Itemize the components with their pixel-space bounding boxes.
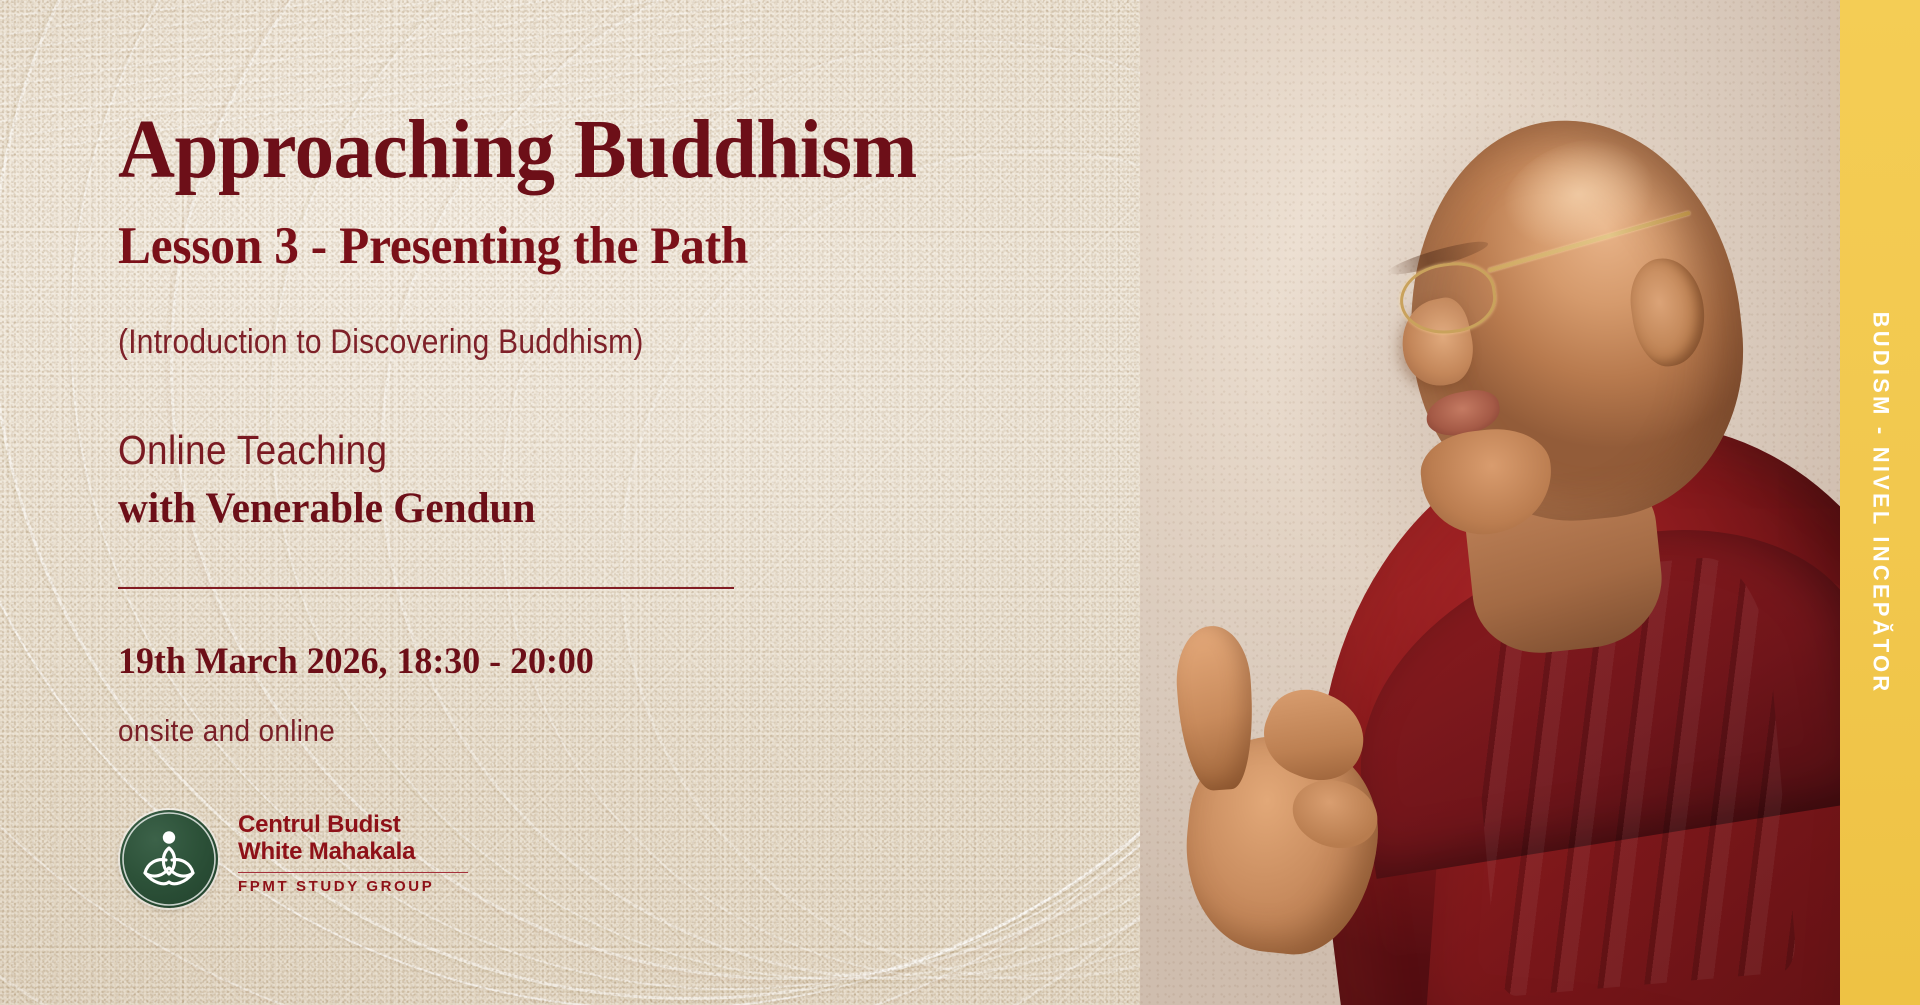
event-poster: Approaching Buddhism Lesson 3 - Presenti…	[0, 0, 1920, 1005]
section-divider	[118, 587, 734, 589]
text-content: Approaching Buddhism Lesson 3 - Presenti…	[0, 0, 1100, 1005]
datetime-label: 19th March 2026, 18:30 - 20:00	[118, 643, 594, 680]
category-sidebar: BUDISM - NIVEL INCEPĂTOR	[1840, 0, 1920, 1005]
lotus-icon	[120, 810, 218, 908]
hand-gesture	[1145, 616, 1428, 970]
org-name-line2: White Mahakala	[238, 839, 518, 866]
lesson-subtitle: Lesson 3 - Presenting the Path	[118, 220, 748, 273]
org-name-line1: Centrul Budist	[238, 812, 518, 839]
organization-logo: Centrul Budist White Mahakala FPMT STUDY…	[120, 810, 520, 920]
affiliation-label: FPMT STUDY GROUP	[238, 878, 518, 895]
attendance-label: onsite and online	[118, 715, 335, 746]
category-label: BUDISM - NIVEL INCEPĂTOR	[1867, 311, 1893, 694]
format-label: Online Teaching	[118, 430, 387, 471]
page-title: Approaching Buddhism	[118, 108, 917, 192]
teacher-label: with Venerable Gendun	[118, 487, 535, 530]
logo-divider	[238, 872, 468, 874]
course-parenthetical: (Introduction to Discovering Buddhism)	[118, 325, 644, 359]
monk-photo	[1140, 0, 1840, 1005]
